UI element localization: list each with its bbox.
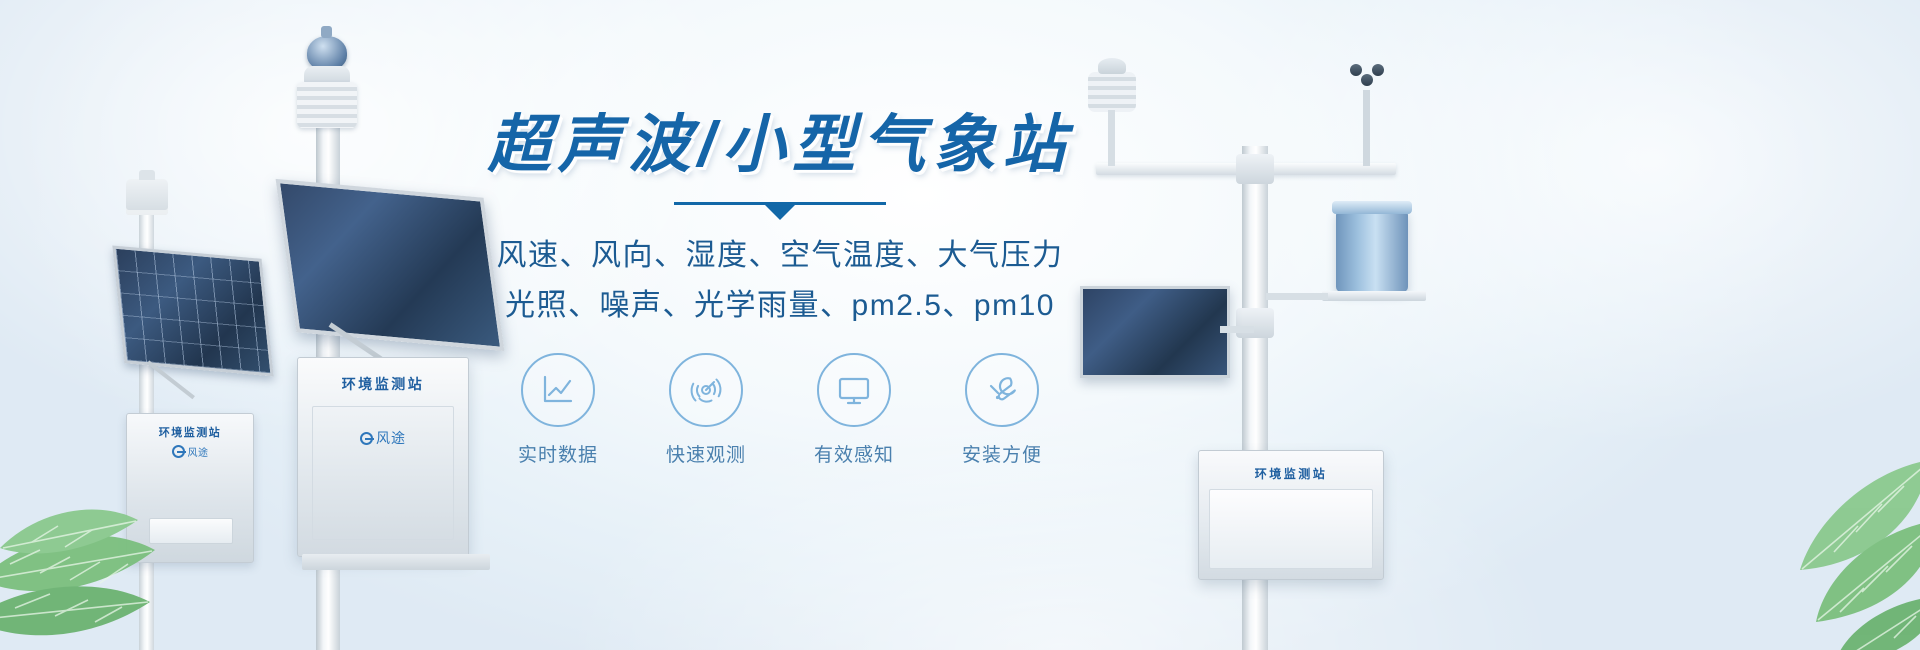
subtitle-line-2: 光照、噪声、光学雨量、pm2.5、pm10 — [440, 282, 1120, 329]
sensor-stem — [1108, 110, 1115, 166]
cabinet-body — [1209, 489, 1373, 569]
page-title: 超声波/小型气象站 — [440, 108, 1120, 182]
radiation-shield-sensor-icon — [126, 179, 168, 215]
product-banner: 环境监测站 风途 环境监测站 风途 超声波/小型气象站 — [0, 0, 1920, 650]
divider-triangle-icon — [765, 205, 795, 220]
banner-content: 超声波/小型气象站 风速、风向、湿度、空气温度、大气压力 光照、噪声、光学雨量、… — [440, 108, 1120, 467]
feature-item-fast-observation[interactable]: 快速观测 — [651, 353, 761, 467]
feature-icon-circle — [817, 353, 891, 427]
feature-icon-circle — [669, 353, 743, 427]
control-cabinet: 环境监测站 — [1198, 450, 1384, 580]
anemometer-stem — [1363, 90, 1370, 166]
monitor-icon — [834, 370, 874, 410]
feature-item-realtime-data[interactable]: 实时数据 — [503, 353, 613, 467]
radiation-shield-sensor-icon — [297, 82, 357, 128]
feature-icon-circle — [521, 353, 595, 427]
radar-wave-icon — [686, 370, 726, 410]
tropical-leaf-left-decoration — [0, 430, 270, 650]
feature-icon-circle — [965, 353, 1039, 427]
cabinet-label: 环境监测站 — [1199, 465, 1383, 482]
instrument-shelf — [1322, 291, 1426, 301]
mast-collar — [1236, 154, 1274, 184]
wrench-icon — [982, 370, 1022, 410]
feature-label: 实时数据 — [503, 440, 613, 467]
feature-label: 快速观测 — [651, 440, 761, 467]
tropical-leaf-right-decoration — [1620, 400, 1920, 650]
feature-item-effective-sensing[interactable]: 有效感知 — [799, 353, 909, 467]
ultrasonic-sensor-icon — [1088, 72, 1136, 112]
wind-cup-anemometer-icon — [1350, 60, 1384, 94]
weather-station-right: 环境监测站 — [1060, 50, 1440, 650]
leaf-icon — [0, 430, 270, 650]
title-divider — [674, 202, 886, 218]
rain-gauge-icon — [1336, 210, 1408, 292]
feature-label: 有效感知 — [799, 440, 909, 467]
solar-panel-arm — [1220, 326, 1254, 333]
solar-panel — [112, 245, 273, 376]
shelf-support-arm — [1266, 293, 1328, 300]
cabinet-base — [302, 554, 490, 570]
feature-item-easy-installation[interactable]: 安装方便 — [947, 353, 1057, 467]
solar-panel — [1080, 286, 1230, 378]
line-chart-icon — [538, 370, 578, 410]
feature-list: 实时数据 快速观测 — [440, 353, 1120, 467]
subtitle-line-1: 风速、风向、湿度、空气温度、大气压力 — [440, 232, 1120, 279]
leaf-icon — [1620, 400, 1920, 650]
mast-collar-lower — [1236, 308, 1274, 338]
cabinet-door — [312, 406, 454, 540]
brand-logo-icon — [360, 432, 373, 445]
feature-label: 安装方便 — [947, 440, 1057, 467]
sky-dome-sensor-icon — [307, 36, 347, 70]
